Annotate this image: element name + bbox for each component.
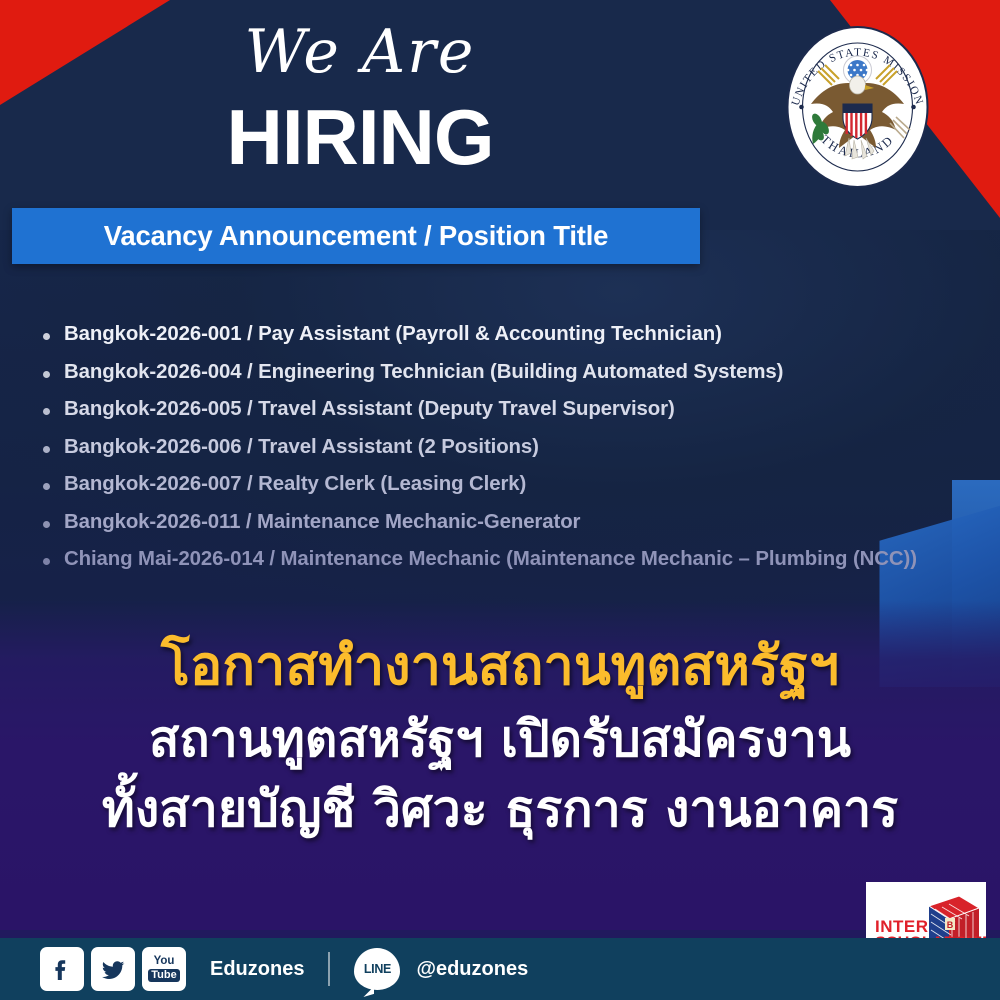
- line-icon[interactable]: LINE: [354, 948, 400, 990]
- youtube-icon[interactable]: You Tube: [142, 947, 186, 991]
- hiring-poster: We Are HIRING Vacancy Announcement / Pos…: [0, 0, 1000, 1000]
- vacancy-announcement-label: Vacancy Announcement / Position Title: [104, 220, 609, 252]
- facebook-icon[interactable]: [40, 947, 84, 991]
- list-item: Bangkok-2026-005 / Travel Assistant (Dep…: [36, 391, 991, 429]
- list-item: Bangkok-2026-011 / Maintenance Mechanic-…: [36, 504, 991, 542]
- vacancy-announcement-banner: Vacancy Announcement / Position Title: [12, 208, 700, 264]
- social-icon-group: You Tube: [40, 947, 186, 991]
- thai-headline-line1: โอกาสทำงานสถานทูตสหรัฐฯ: [0, 628, 1000, 704]
- thai-headline: โอกาสทำงานสถานทูตสหรัฐฯ สถานทูตสหรัฐฯ เป…: [0, 628, 1000, 844]
- badge-line1: INTER: [875, 918, 986, 935]
- twitter-icon[interactable]: [91, 947, 135, 991]
- footer-bar: You Tube Eduzones LINE @eduzones: [0, 938, 1000, 1000]
- line-handle-label: @eduzones: [416, 958, 528, 981]
- youtube-icon-line1: You: [154, 956, 175, 968]
- thai-headline-line3: ทั้งสายบัญชี วิศวะ ธุรการ งานอาคาร: [0, 774, 1000, 844]
- we-are-text: We Are: [0, 22, 720, 82]
- vacancy-list: Bangkok-2026-001 / Pay Assistant (Payrol…: [36, 316, 991, 579]
- hiring-text: HIRING: [0, 98, 720, 176]
- list-item: Bangkok-2026-007 / Realty Clerk (Leasing…: [36, 466, 991, 504]
- youtube-icon-line2: Tube: [148, 969, 179, 982]
- line-icon-label: LINE: [364, 962, 391, 976]
- us-mission-thailand-seal: UNITED STATES MISSION THAILAND: [775, 22, 940, 192]
- eduzones-brand-label: Eduzones: [210, 958, 304, 981]
- list-item: Chiang Mai-2026-014 / Maintenance Mechan…: [36, 541, 991, 579]
- list-item: Bangkok-2026-004 / Engineering Technicia…: [36, 354, 991, 392]
- list-item: Bangkok-2026-001 / Pay Assistant (Payrol…: [36, 316, 991, 354]
- list-item: Bangkok-2026-006 / Travel Assistant (2 P…: [36, 429, 991, 467]
- thai-headline-line2: สถานทูตสหรัฐฯ เปิดรับสมัครงาน: [0, 704, 1000, 774]
- footer-divider: [328, 952, 330, 986]
